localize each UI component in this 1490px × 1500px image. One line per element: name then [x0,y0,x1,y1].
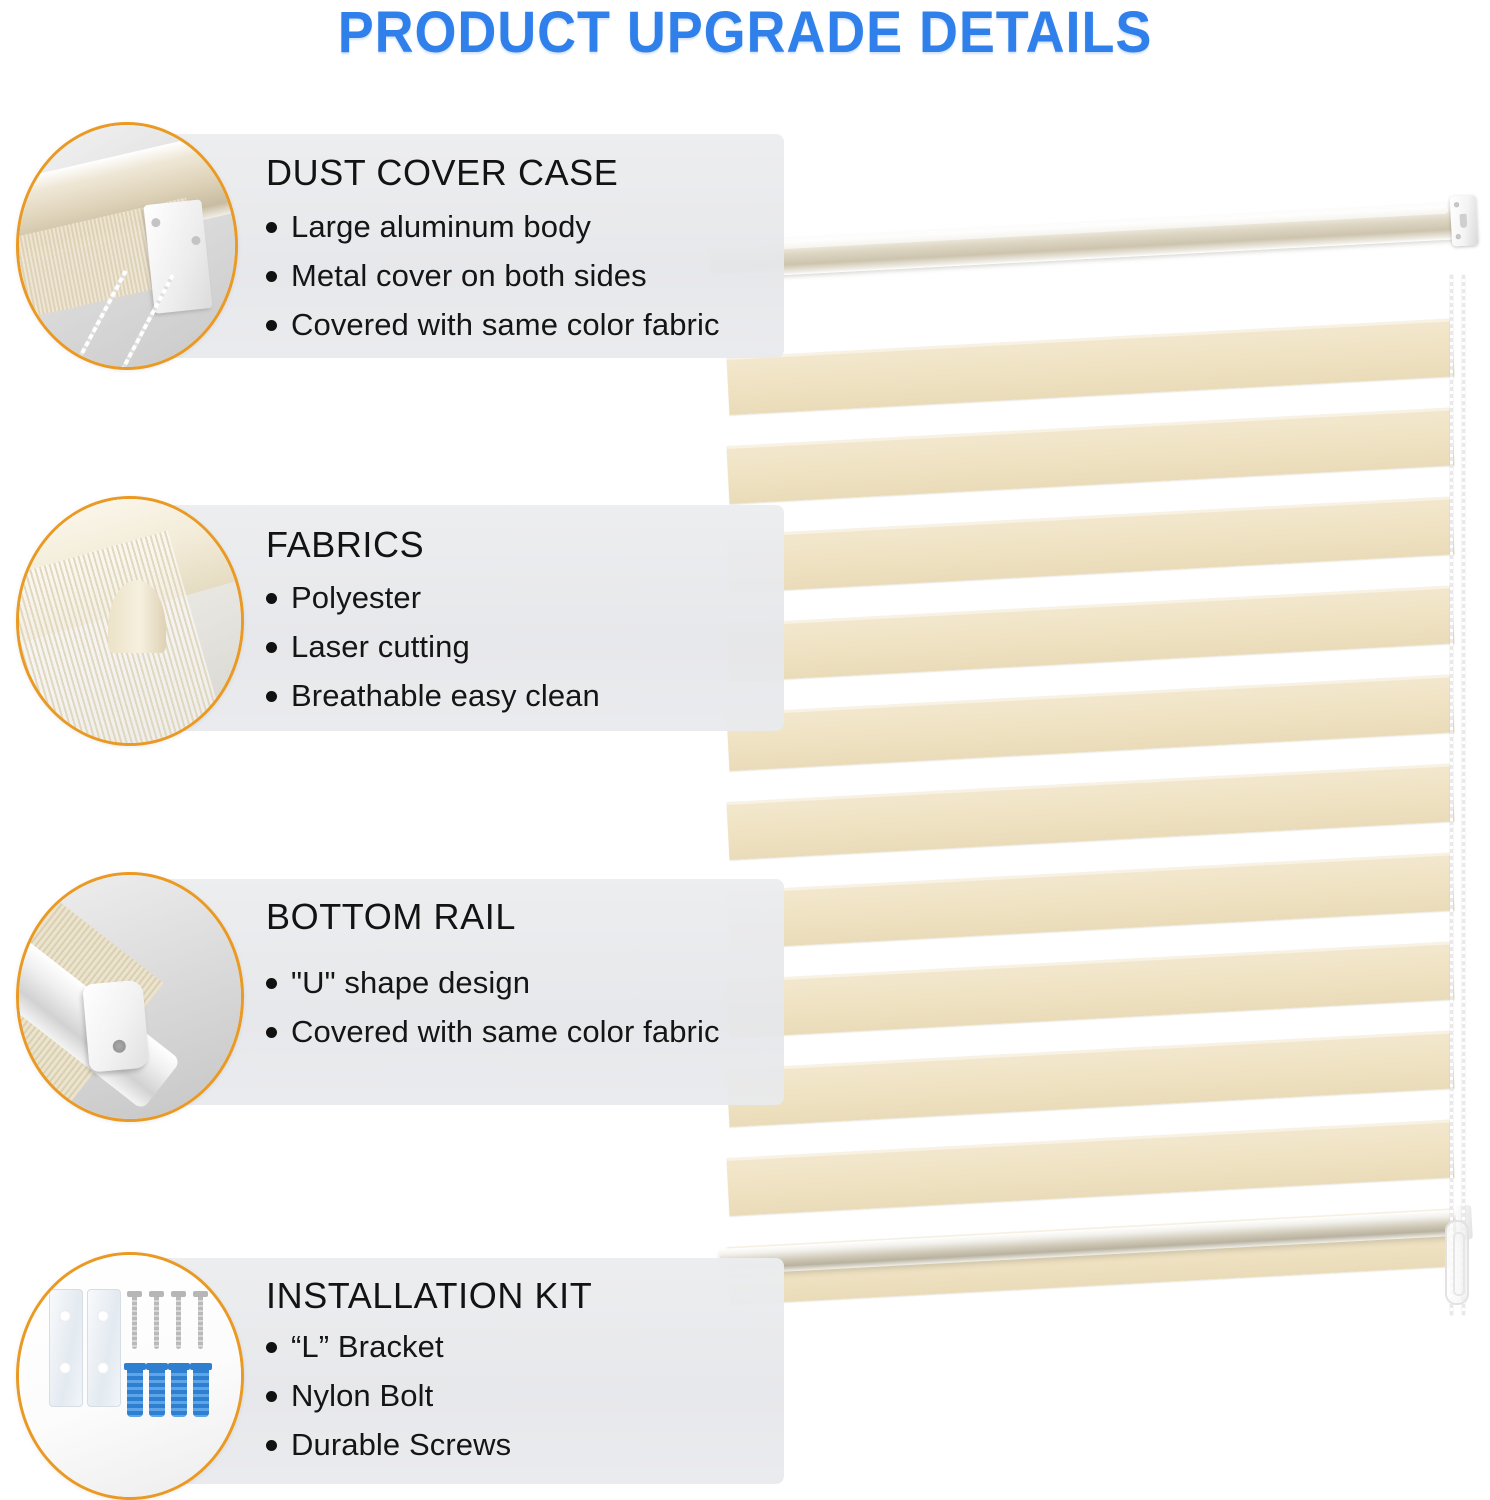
bullet-dot-icon [266,978,277,989]
bead-chain[interactable] [1462,275,1465,1315]
bullet-text: Large aluminum body [291,202,591,251]
page-title: PRODUCT UPGRADE DETAILS [52,2,1438,68]
list-item: Large aluminum body [266,202,720,251]
fabric-stripe [726,496,1454,593]
feature-bullet-list: "U" shape design Covered with same color… [266,958,720,1056]
dust-cover-case-photo [19,125,235,367]
bullet-dot-icon [266,1027,277,1038]
end-cap-screw-icon [1454,202,1459,207]
metal-end-cover [143,200,212,314]
l-bracket [49,1289,83,1407]
feature-heading: DUST COVER CASE [266,152,618,194]
top-rail [709,202,1472,278]
screw-icon [197,1291,204,1349]
screw-icon [153,1291,160,1349]
bullet-text: "U" shape design [291,958,530,1007]
screw-icon [112,1040,126,1054]
bullet-text: “L” Bracket [291,1322,444,1371]
bullet-dot-icon [266,593,277,604]
list-item: Durable Screws [266,1420,511,1469]
nylon-bolt-anchor [149,1363,165,1417]
list-item: Laser cutting [266,622,600,671]
bullet-text: Metal cover on both sides [291,251,647,300]
feature-image-dust-cover-case [16,122,238,370]
fabric-stripe [726,852,1454,949]
installation-kit-photo [19,1255,241,1497]
keyhole-icon [1460,214,1468,228]
feature-image-bottom-rail [16,872,244,1122]
list-item: Breathable easy clean [266,671,600,720]
bullet-dot-icon [266,642,277,653]
list-item: Nylon Bolt [266,1371,511,1420]
feature-bullet-list: Large aluminum body Metal cover on both … [266,202,720,349]
nylon-bolt-anchor [193,1363,209,1417]
nylon-bolt-anchor [171,1363,187,1417]
fabric-stripe [726,763,1454,860]
bullet-text: Nylon Bolt [291,1371,433,1420]
list-item: Covered with same color fabric [266,300,720,349]
l-bracket [87,1289,121,1407]
feature-bullet-list: Polyester Laser cutting Breathable easy … [266,573,600,720]
bullet-text: Breathable easy clean [291,671,600,720]
feature-heading: INSTALLATION KIT [266,1275,592,1317]
bullet-dot-icon [266,271,277,282]
bullet-text: Polyester [291,573,421,622]
fabric-stripe [726,941,1454,1038]
bullet-dot-icon [266,1391,277,1402]
screw-icon [175,1291,182,1349]
fabric-stripe [726,407,1454,504]
chain-safety-clip[interactable] [1445,1220,1469,1305]
end-cap-screw-icon [1456,234,1461,239]
screw-icon [131,1291,138,1349]
fabric-stripe [726,1119,1454,1216]
feature-heading: BOTTOM RAIL [266,896,516,938]
list-item: "U" shape design [266,958,720,1007]
feature-bullet-list: “L” Bracket Nylon Bolt Durable Screws [266,1322,511,1469]
feature-image-installation-kit [16,1252,244,1500]
bullet-dot-icon [266,1440,277,1451]
nylon-bolt-anchor [127,1363,143,1417]
fabric-closeup-photo [19,499,241,743]
fabric-stripe [726,318,1454,415]
bullet-text: Durable Screws [291,1420,511,1469]
list-item: “L” Bracket [266,1322,511,1371]
bullet-dot-icon [266,222,277,233]
list-item: Metal cover on both sides [266,251,720,300]
fabric-stripe [726,585,1454,682]
product-image-zebra-blind [690,215,1490,1345]
bullet-dot-icon [266,1342,277,1353]
bullet-text: Laser cutting [291,622,470,671]
rail-end-cap [82,980,149,1073]
fabric-stripe [726,1030,1454,1127]
bullet-text: Covered with same color fabric [291,1007,720,1056]
bottom-rail-photo [19,875,241,1119]
feature-image-fabrics [16,496,244,746]
top-rail-highlight [711,206,1448,253]
list-item: Covered with same color fabric [266,1007,720,1056]
bullet-dot-icon [266,320,277,331]
list-item: Polyester [266,573,600,622]
feature-heading: FABRICS [266,524,424,566]
dust-cover-end-cap [1450,195,1479,246]
bead-chain[interactable] [1450,275,1453,1315]
fabric-stripe [726,674,1454,771]
bullet-text: Covered with same color fabric [291,300,720,349]
bullet-dot-icon [266,691,277,702]
